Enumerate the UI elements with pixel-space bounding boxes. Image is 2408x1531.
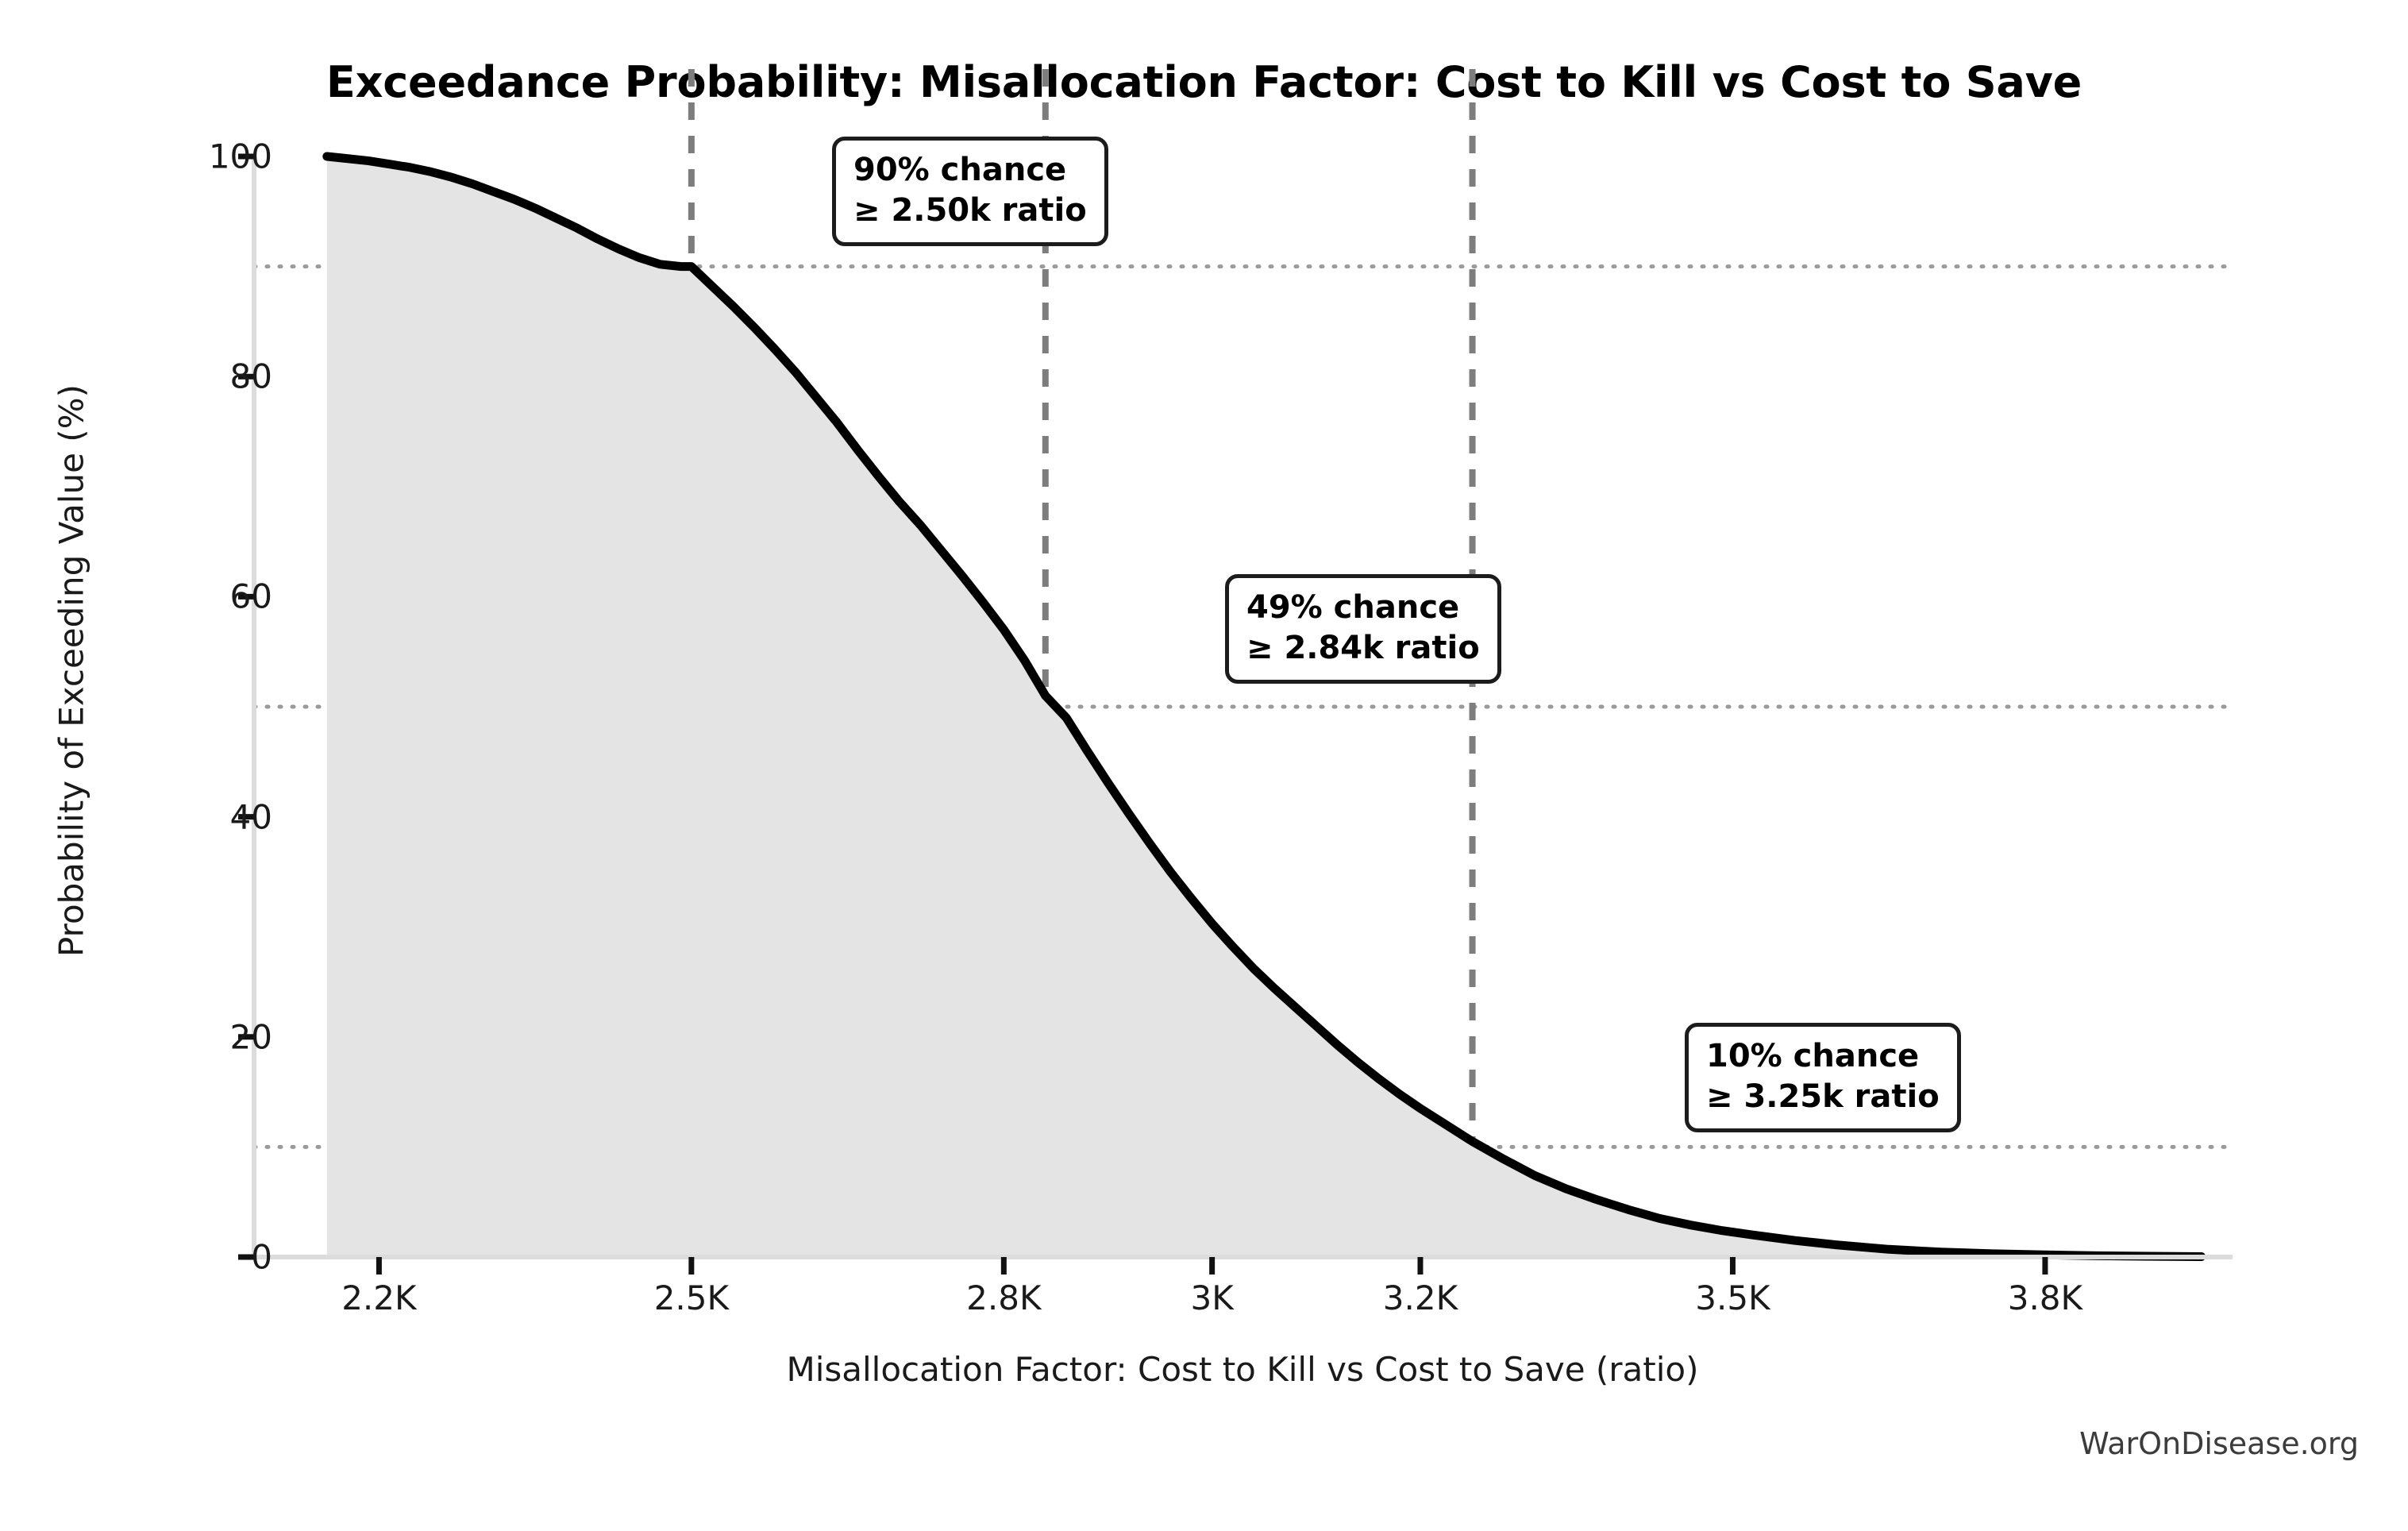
x-tick-label: 2.2K xyxy=(275,1278,482,1317)
x-tick-label: 2.5K xyxy=(588,1278,795,1317)
y-tick-label: 0 xyxy=(82,1238,272,1277)
annotation-p90: 90% chance≥ 2.50k ratio xyxy=(832,137,1108,246)
x-tick-label: 3K xyxy=(1109,1278,1316,1317)
annotation-probability-text: 49% chance xyxy=(1246,588,1480,628)
annotation-probability-text: 10% chance xyxy=(1706,1036,1940,1077)
x-tick-label: 3.8K xyxy=(1942,1278,2148,1317)
y-tick-label: 60 xyxy=(82,577,272,616)
footer-credit: WarOnDisease.org xyxy=(2079,1426,2359,1461)
y-tick-label: 100 xyxy=(82,137,272,176)
x-axis-ticks xyxy=(379,1257,2045,1275)
annotation-threshold-text: ≥ 3.25k ratio xyxy=(1706,1077,1940,1117)
y-tick-label: 80 xyxy=(82,357,272,396)
x-tick-label: 3.5K xyxy=(1629,1278,1836,1317)
chart-figure: Exceedance Probability: Misallocation Fa… xyxy=(0,0,2408,1531)
annotation-p49: 49% chance≥ 2.84k ratio xyxy=(1225,574,1501,684)
y-tick-label: 40 xyxy=(82,797,272,836)
x-tick-label: 3.2K xyxy=(1317,1278,1524,1317)
annotation-threshold-text: ≥ 2.50k ratio xyxy=(853,191,1087,231)
y-tick-label: 20 xyxy=(82,1017,272,1056)
annotation-p10: 10% chance≥ 3.25k ratio xyxy=(1685,1023,1961,1132)
x-tick-label: 2.8K xyxy=(900,1278,1107,1317)
annotation-probability-text: 90% chance xyxy=(853,150,1087,191)
annotation-threshold-text: ≥ 2.84k ratio xyxy=(1246,628,1480,669)
